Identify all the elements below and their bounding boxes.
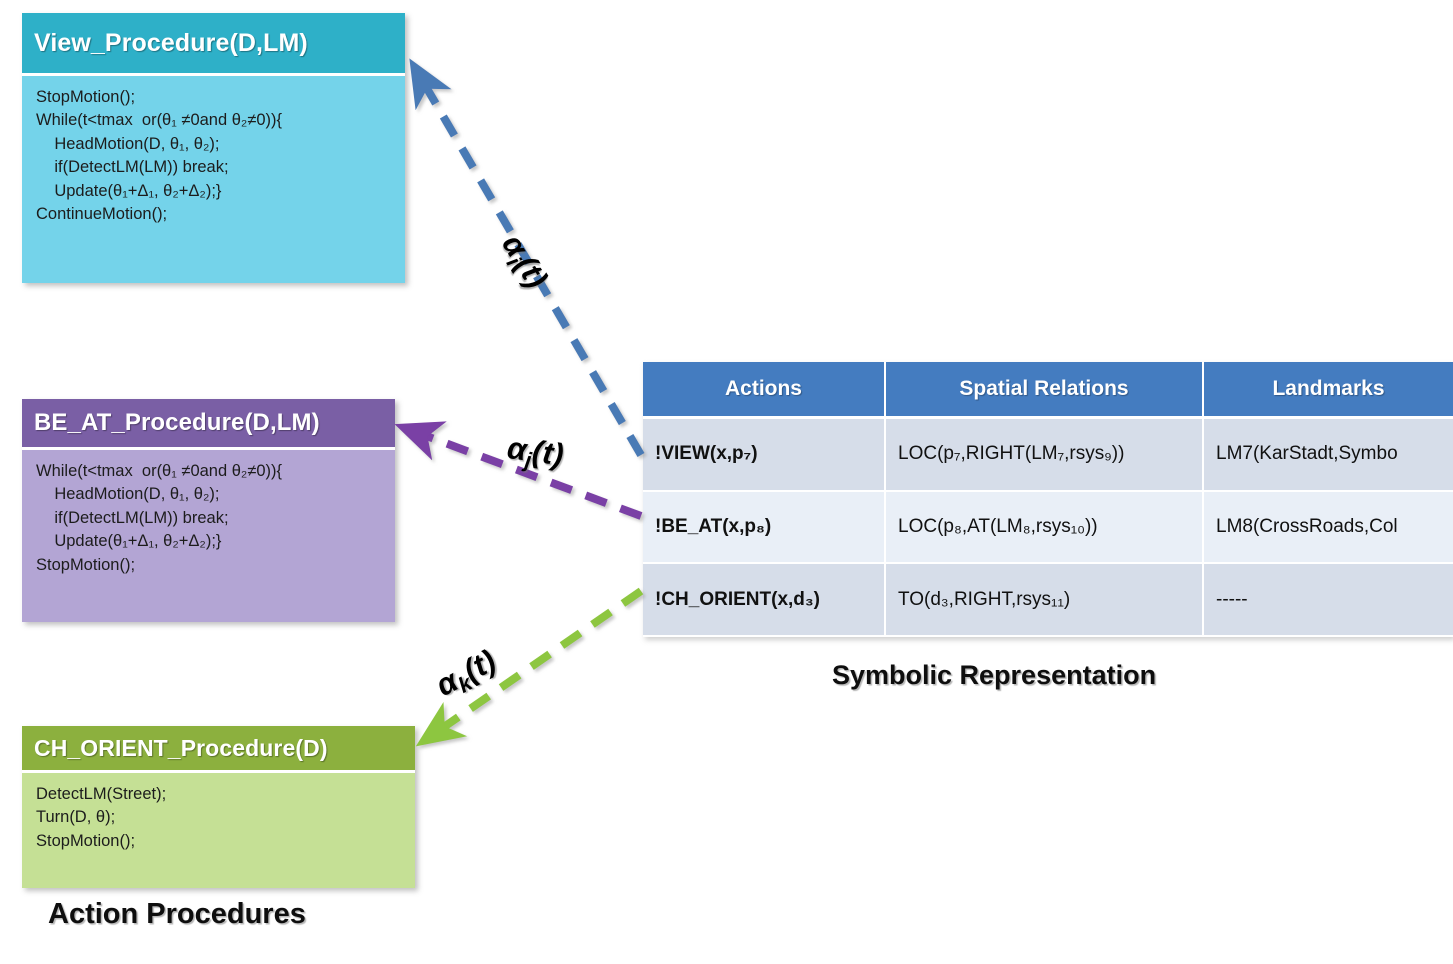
be-at-procedure-header: BE_AT_Procedure(D,LM) <box>22 399 395 447</box>
diagram-canvas: View_Procedure(D,LM) StopMotion(); While… <box>0 0 1453 964</box>
code-line: Turn(D, θ); <box>36 806 403 829</box>
code-line: ContinueMotion(); <box>36 203 393 226</box>
code-line: While(t<tmax or(θ₁ ≠0and θ₂≠0)){ <box>36 109 393 132</box>
code-line: HeadMotion(D, θ₁, θ₂); <box>36 133 393 156</box>
code-line: StopMotion(); <box>36 554 383 577</box>
view-procedure-box: View_Procedure(D,LM) StopMotion(); While… <box>22 13 405 283</box>
symbolic-representation-caption: Symbolic Representation <box>832 660 1156 691</box>
action-procedures-caption: Action Procedures <box>48 898 306 931</box>
cell-landmark: LM8(CrossRoads,Col <box>1203 491 1453 564</box>
arrow-label-alpha-k: αk(t) <box>430 643 504 708</box>
view-procedure-header: View_Procedure(D,LM) <box>22 13 405 73</box>
cell-relation: LOC(p₈,AT(LM₈,rsys₁₀)) <box>885 491 1203 564</box>
be-at-procedure-body: While(t<tmax or(θ₁ ≠0and θ₂≠0)){ HeadMot… <box>22 447 395 622</box>
table-row: !VIEW(x,p₇) LOC(p₇,RIGHT(LM₇,rsys₉)) LM7… <box>643 418 1453 491</box>
ch-orient-procedure-header: CH_ORIENT_Procedure(D) <box>22 726 415 770</box>
cell-relation: LOC(p₇,RIGHT(LM₇,rsys₉)) <box>885 418 1203 491</box>
table-row: !BE_AT(x,p₈) LOC(p₈,AT(LM₈,rsys₁₀)) LM8(… <box>643 491 1453 564</box>
table-header-row: Actions Spatial Relations Landmarks <box>643 362 1453 418</box>
ch-orient-procedure-box: CH_ORIENT_Procedure(D) DetectLM(Street);… <box>22 726 415 888</box>
code-line: if(DetectLM(LM)) break; <box>36 507 383 530</box>
be-at-procedure-box: BE_AT_Procedure(D,LM) While(t<tmax or(θ₁… <box>22 399 395 622</box>
cell-landmark: LM7(KarStadt,Symbo <box>1203 418 1453 491</box>
alpha-tail: (t) <box>530 434 566 473</box>
code-line: StopMotion(); <box>36 830 403 853</box>
cell-action: !BE_AT(x,p₈) <box>643 491 885 564</box>
code-line: Update(θ₁+Δ₁, θ₂+Δ₂);} <box>36 530 383 553</box>
cell-action: !CH_ORIENT(x,d₃) <box>643 563 885 636</box>
cell-action: !VIEW(x,p₇) <box>643 418 885 491</box>
arrow-label-alpha-i: αi(t) <box>491 228 555 297</box>
arrow-label-alpha-j: αj(t) <box>504 430 565 478</box>
cell-relation: TO(d₃,RIGHT,rsys₁₁) <box>885 563 1203 636</box>
table-row: !CH_ORIENT(x,d₃) TO(d₃,RIGHT,rsys₁₁) ---… <box>643 563 1453 636</box>
symbolic-representation-table: Actions Spatial Relations Landmarks !VIE… <box>643 362 1453 637</box>
column-header-actions: Actions <box>643 362 885 418</box>
column-header-relations: Spatial Relations <box>885 362 1203 418</box>
code-line: if(DetectLM(LM)) break; <box>36 156 393 179</box>
ch-orient-procedure-body: DetectLM(Street); Turn(D, θ); StopMotion… <box>22 770 415 888</box>
view-procedure-body: StopMotion(); While(t<tmax or(θ₁ ≠0and θ… <box>22 73 405 283</box>
column-header-landmarks: Landmarks <box>1203 362 1453 418</box>
code-line: While(t<tmax or(θ₁ ≠0and θ₂≠0)){ <box>36 460 383 483</box>
code-line: HeadMotion(D, θ₁, θ₂); <box>36 483 383 506</box>
cell-landmark: ----- <box>1203 563 1453 636</box>
code-line: StopMotion(); <box>36 86 393 109</box>
code-line: DetectLM(Street); <box>36 783 403 806</box>
code-line: Update(θ₁+Δ₁, θ₂+Δ₂);} <box>36 180 393 203</box>
